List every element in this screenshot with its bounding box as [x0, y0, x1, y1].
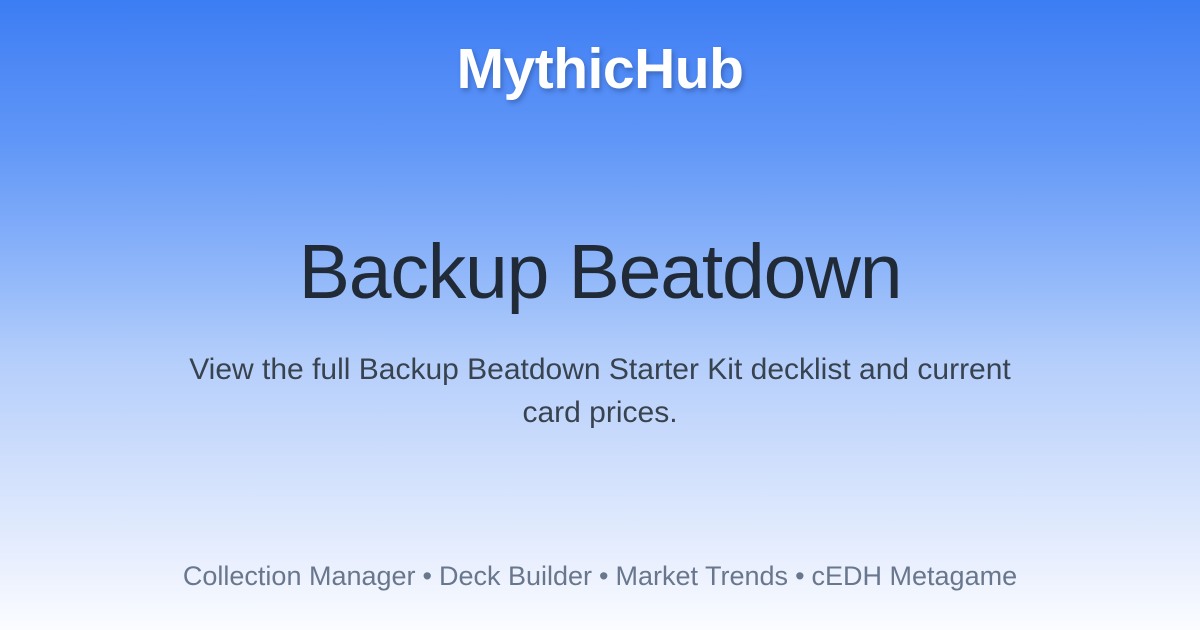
footer-item-collection-manager: Collection Manager: [183, 561, 416, 591]
footer-separator: •: [416, 561, 439, 591]
page-subtitle: View the full Backup Beatdown Starter Ki…: [180, 348, 1020, 436]
hero-section: Backup Beatdown View the full Backup Bea…: [0, 232, 1200, 435]
social-share-card: MythicHub Backup Beatdown View the full …: [0, 0, 1200, 630]
feature-footer: Collection Manager•Deck Builder•Market T…: [0, 560, 1200, 592]
brand-logo: MythicHub: [457, 41, 744, 98]
footer-item-cedh-metagame: cEDH Metagame: [812, 561, 1018, 591]
footer-item-deck-builder: Deck Builder: [439, 561, 592, 591]
footer-separator: •: [788, 561, 811, 591]
footer-separator: •: [592, 561, 615, 591]
page-title: Backup Beatdown: [259, 232, 942, 314]
footer-item-market-trends: Market Trends: [616, 561, 789, 591]
